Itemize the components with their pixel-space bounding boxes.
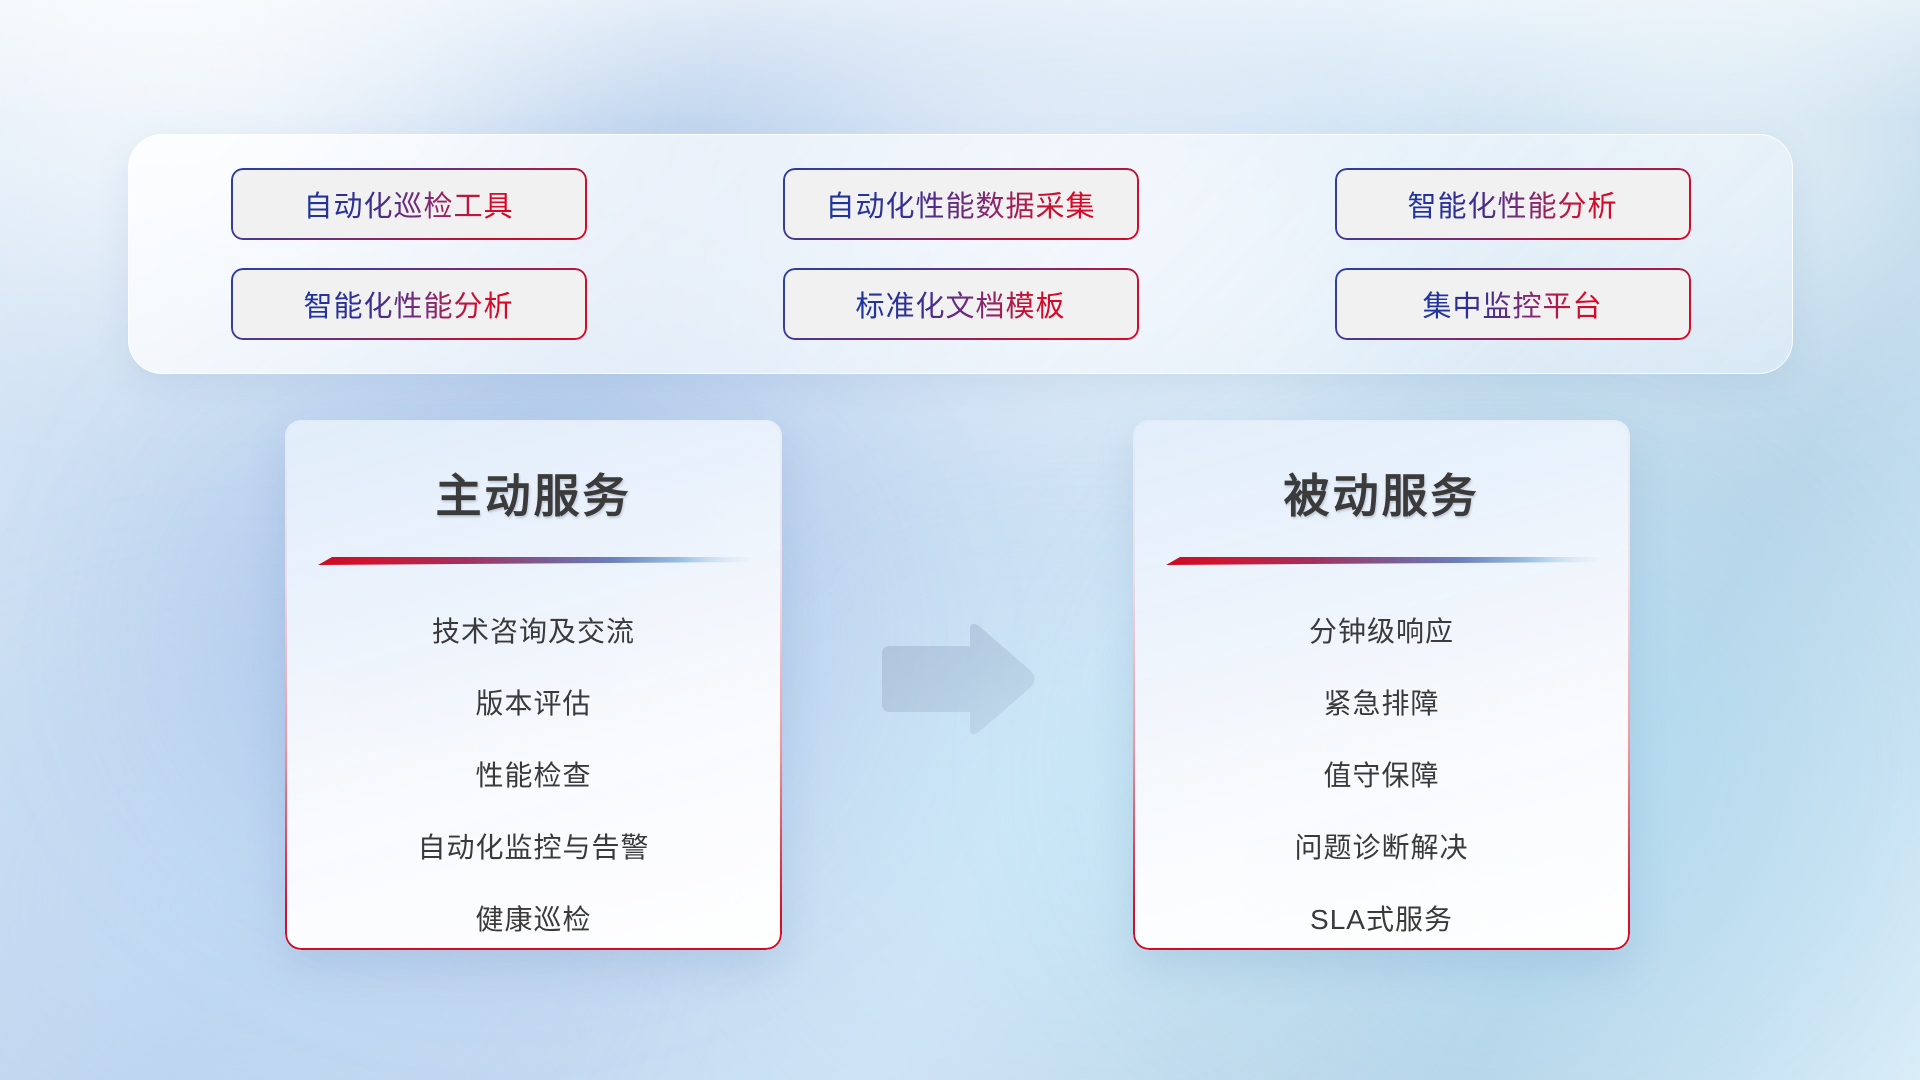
list-item: 技术咨询及交流 bbox=[313, 596, 754, 668]
list-item: 健康巡检 bbox=[313, 884, 754, 950]
capability-pill-grid: 自动化巡检工具 自动化性能数据采集 智能化性能分析 智能化性能分析 标准化文档模… bbox=[189, 165, 1732, 343]
list-item: 性能检查 bbox=[313, 740, 754, 812]
list-item: 版本评估 bbox=[313, 668, 754, 740]
list-item: SLA式服务 bbox=[1161, 884, 1602, 950]
list-item: 值守保障 bbox=[1161, 740, 1602, 812]
capability-pill-3[interactable]: 智能化性能分析 bbox=[1335, 168, 1691, 240]
gradient-wedge-icon bbox=[318, 552, 750, 568]
capability-pill-label: 自动化性能数据采集 bbox=[825, 183, 1095, 225]
capability-pill-label: 自动化巡检工具 bbox=[303, 183, 513, 225]
service-card-active: 主动服务 技术咨询及交流 版本评估 性能检查 自动化监控与告警 健康巡检 bbox=[285, 420, 782, 950]
capability-pill-label: 集中监控平台 bbox=[1422, 283, 1602, 325]
capability-pill-2[interactable]: 自动化性能数据采集 bbox=[783, 168, 1139, 240]
gradient-wedge-icon bbox=[1166, 552, 1598, 568]
arrow-right-glyph bbox=[874, 620, 1038, 738]
arrow-right-icon bbox=[874, 620, 1038, 738]
capability-pill-5[interactable]: 标准化文档模板 bbox=[783, 268, 1139, 340]
capability-pill-label: 智能化性能分析 bbox=[1407, 183, 1617, 225]
capability-pill-label: 智能化性能分析 bbox=[303, 283, 513, 325]
list-item: 紧急排障 bbox=[1161, 668, 1602, 740]
card-divider bbox=[1166, 552, 1598, 568]
service-card-passive: 被动服务 分钟级响应 紧急排障 值守保障 问题诊断解决 SLA式服务 bbox=[1133, 420, 1630, 950]
capability-pill-label: 标准化文档模板 bbox=[855, 283, 1065, 325]
service-list: 技术咨询及交流 版本评估 性能检查 自动化监控与告警 健康巡检 bbox=[313, 596, 754, 950]
service-list: 分钟级响应 紧急排障 值守保障 问题诊断解决 SLA式服务 bbox=[1161, 596, 1602, 950]
capability-panel: 自动化巡检工具 自动化性能数据采集 智能化性能分析 智能化性能分析 标准化文档模… bbox=[128, 134, 1793, 374]
list-item: 分钟级响应 bbox=[1161, 596, 1602, 668]
card-title: 主动服务 bbox=[313, 460, 754, 526]
card-divider bbox=[318, 552, 750, 568]
capability-pill-1[interactable]: 自动化巡检工具 bbox=[231, 168, 587, 240]
list-item: 自动化监控与告警 bbox=[313, 812, 754, 884]
capability-pill-6[interactable]: 集中监控平台 bbox=[1335, 268, 1691, 340]
capability-pill-4[interactable]: 智能化性能分析 bbox=[231, 268, 587, 340]
card-title: 被动服务 bbox=[1161, 460, 1602, 526]
list-item: 问题诊断解决 bbox=[1161, 812, 1602, 884]
background-top-fade bbox=[0, 0, 1920, 120]
